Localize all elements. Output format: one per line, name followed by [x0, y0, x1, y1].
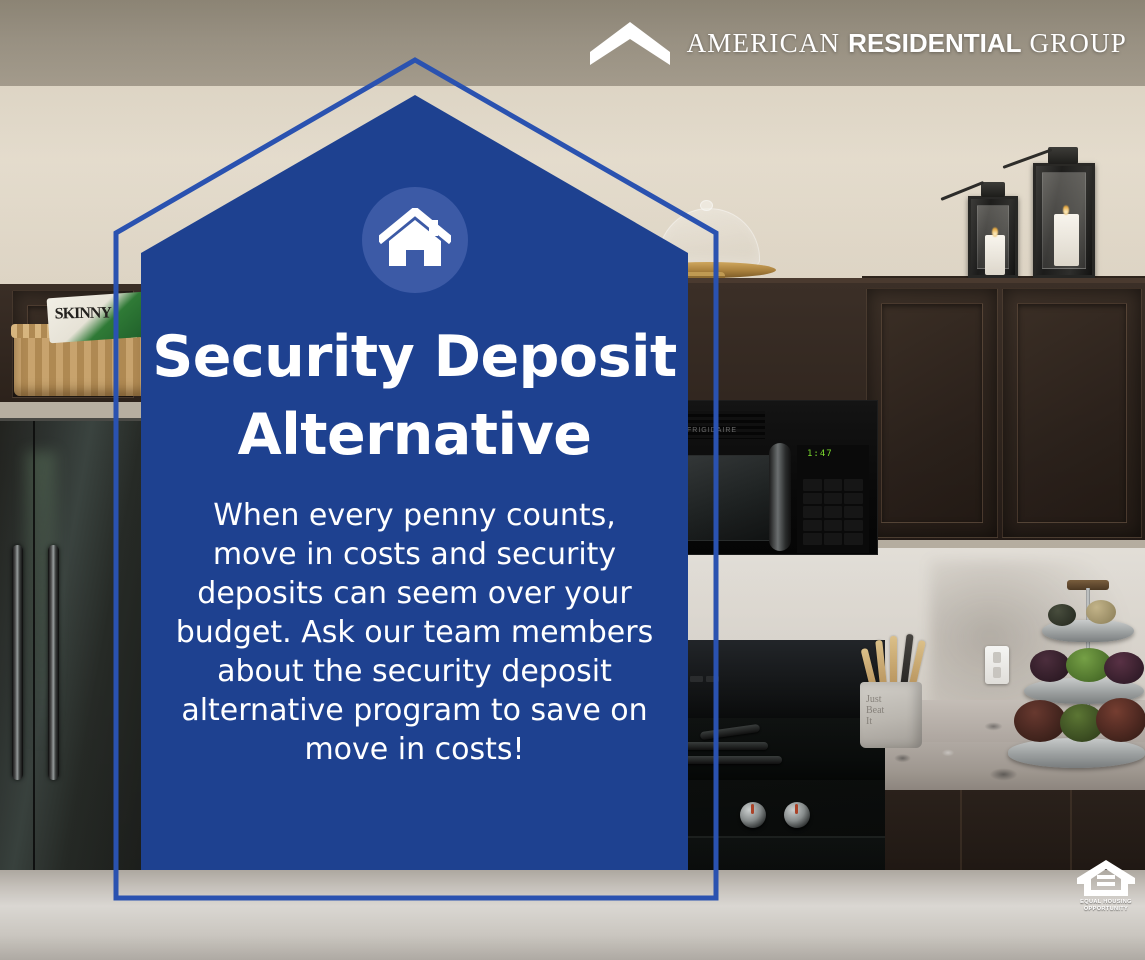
house-icon-badge [362, 187, 468, 293]
equal-housing-house-icon [1075, 858, 1137, 898]
equal-housing-text: EQUAL HOUSING OPPORTUNITY [1080, 899, 1132, 912]
brand-logo-bar: AMERICAN RESIDENTIAL GROUP [0, 0, 1145, 86]
card-content: Security Deposit Alternative When every … [141, 95, 688, 870]
brand-logo[interactable]: AMERICAN RESIDENTIAL GROUP [589, 20, 1127, 66]
body-paragraph: When every penny counts, move in costs a… [169, 496, 661, 769]
eho-line1: EQUAL HOUSING [1080, 899, 1132, 905]
house-icon [379, 208, 451, 272]
equal-housing-opportunity-logo: EQUAL HOUSING OPPORTUNITY [1073, 858, 1139, 916]
poster-canvas: FRIGIDAIRE 1:47 SKINNY [0, 0, 1145, 960]
brand-name: AMERICAN RESIDENTIAL GROUP [687, 28, 1127, 59]
page-title: Security Deposit Alternative [141, 319, 688, 474]
brand-name-part3: GROUP [1029, 28, 1127, 58]
brand-name-part1: AMERICAN [687, 28, 841, 58]
chevron-roof-icon [589, 20, 671, 66]
brand-name-part2: RESIDENTIAL [848, 28, 1021, 58]
eho-line2: OPPORTUNITY [1084, 906, 1128, 912]
